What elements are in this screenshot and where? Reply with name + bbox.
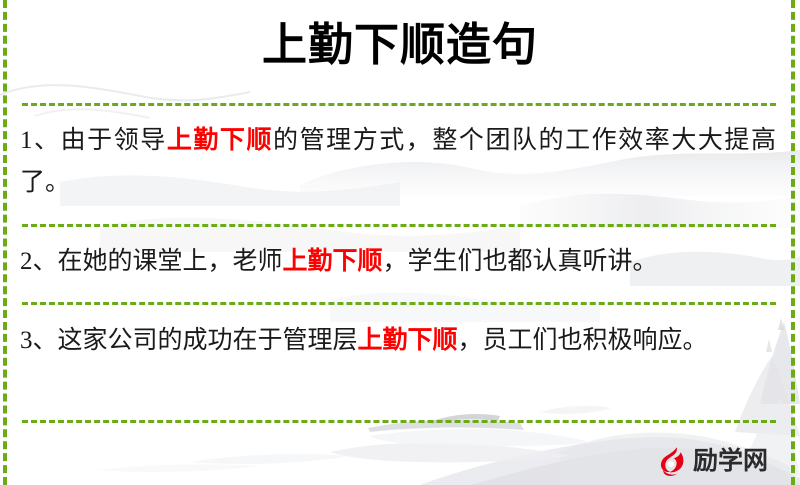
sentence-text-before-2: 在她的课堂上，老师: [58, 248, 283, 275]
sentence-number-1: 1、: [20, 127, 61, 154]
example-sentence-1: 1、由于领导上勤下顺的管理方式，整个团队的工作效率大大提高了。: [20, 120, 776, 204]
frame-left-dashed-border: [3, 0, 7, 485]
sentence-text-before-1: 由于领导: [61, 127, 167, 154]
idiom-highlight-3: 上勤下顺: [358, 327, 458, 354]
page-title: 上勤下顺造句: [0, 14, 800, 76]
red-flame-swirl-icon: [655, 444, 689, 478]
example-sentence-2: 2、在她的课堂上，老师上勤下顺，学生们也都认真听讲。: [20, 241, 776, 283]
watermark-logo: 励学网: [655, 443, 768, 479]
frame-right-dashed-border: [791, 0, 795, 485]
separator-line-3: [22, 302, 776, 305]
idiom-highlight-1: 上勤下顺: [167, 127, 273, 154]
sentence-number-2: 2、: [20, 248, 58, 275]
sentence-text-before-3: 这家公司的成功在于管理层: [58, 327, 358, 354]
separator-line-2: [22, 224, 776, 227]
example-sentence-3: 3、这家公司的成功在于管理层上勤下顺，员工们也积极响应。: [20, 320, 776, 362]
sentence-text-after-3: ，员工们也积极响应。: [458, 327, 708, 354]
idiom-highlight-2: 上勤下顺: [283, 248, 383, 275]
separator-line-4: [22, 420, 776, 423]
sentence-number-3: 3、: [20, 327, 58, 354]
separator-line-1: [22, 103, 776, 106]
watermark-brand-text: 励学网: [693, 447, 768, 475]
sentence-text-after-2: ，学生们也都认真听讲。: [383, 248, 658, 275]
sentence-worksheet-page: 上勤下顺造句 1、由于领导上勤下顺的管理方式，整个团队的工作效率大大提高了。 2…: [0, 0, 800, 485]
